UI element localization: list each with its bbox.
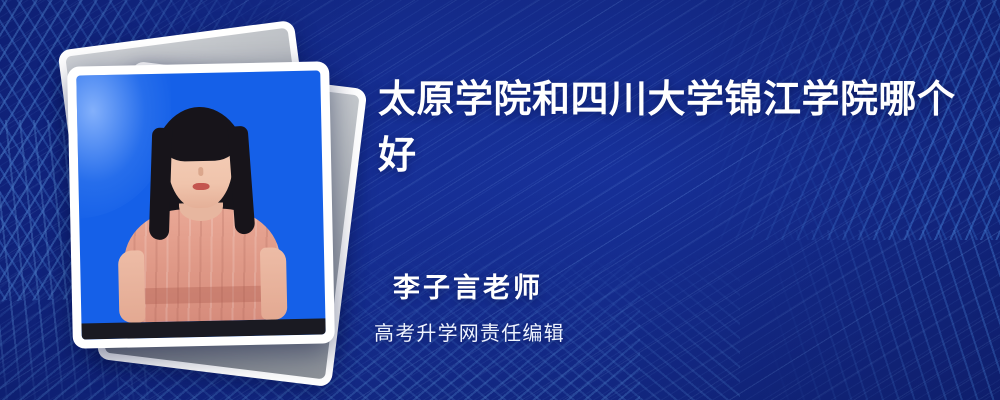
article-cover-banner: 太原学院和四川大学锦江学院哪个好 李子言老师 高考升学网责任编辑 xyxy=(0,0,1000,400)
portrait-arm-left xyxy=(118,250,146,323)
portrait-nose xyxy=(198,167,203,176)
portrait-figure xyxy=(94,85,309,339)
author-photo-card xyxy=(67,61,335,348)
page-title: 太原学院和四川大学锦江学院哪个好 xyxy=(378,72,963,184)
avatar xyxy=(76,70,325,339)
portrait-dress-waistband xyxy=(125,285,281,304)
portrait-dress-folds xyxy=(123,207,281,322)
portrait-mouth xyxy=(193,183,210,190)
author-name: 李子言老师 xyxy=(393,271,543,305)
portrait-torso xyxy=(123,207,281,322)
photo-card-stack xyxy=(62,40,342,360)
cover-text-block: 太原学院和四川大学锦江学院哪个好 李子言老师 高考升学网责任编辑 xyxy=(378,0,978,400)
portrait-hair-strand-left xyxy=(149,128,173,241)
author-role: 高考升学网责任编辑 xyxy=(374,320,565,348)
portrait-arm-right xyxy=(260,247,288,320)
